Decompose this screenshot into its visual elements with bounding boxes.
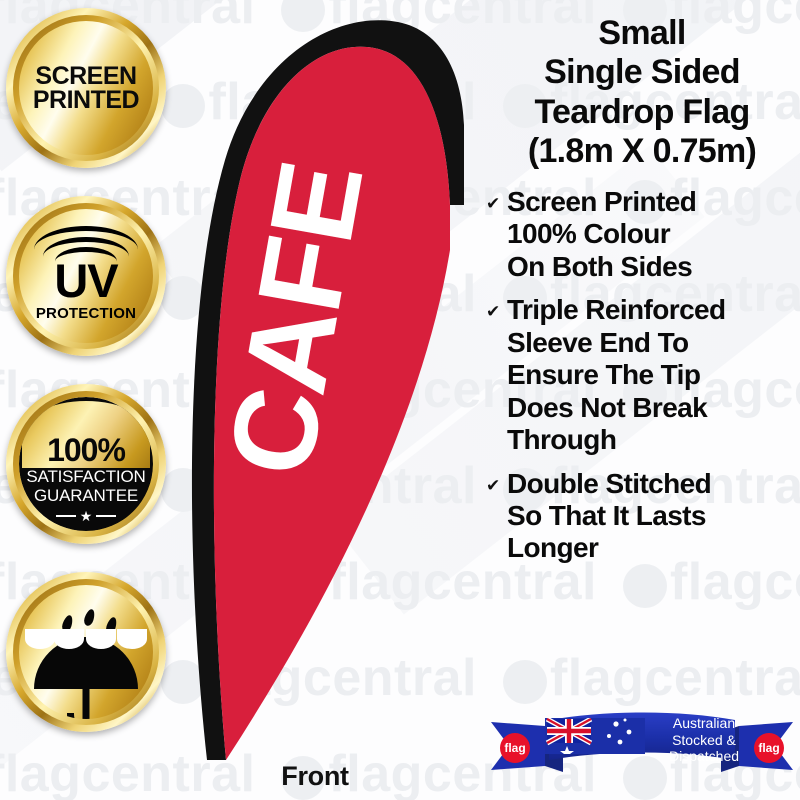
feature-text-line: Longer [507, 532, 711, 564]
feature-text: Double StitchedSo That It LastsLonger [507, 468, 711, 565]
ribbon-text-line: Australian [633, 715, 775, 732]
feature-text-line: Triple Reinforced [507, 294, 726, 326]
feature-text: Screen Printed100% ColourOn Both Sides [507, 186, 696, 283]
product-title: SmallSingle SidedTeardrop Flag(1.8m X 0.… [486, 14, 798, 172]
badge-face: SCREEN PRINTED [19, 21, 153, 155]
australian-stocked-banner: AustralianStocked &Dispatched flag flag [489, 706, 795, 780]
badge-face [19, 585, 153, 719]
feature-text-line: Ensure The Tip [507, 359, 726, 391]
feature-item: ✔Double StitchedSo That It LastsLonger [486, 468, 798, 565]
check-icon: ✔ [486, 468, 503, 496]
feature-text-line: Sleeve End To [507, 327, 726, 359]
badge-sub-text: PROTECTION [36, 305, 136, 322]
badge-screen-printed: SCREEN PRINTED [6, 8, 166, 168]
badge-line-2: PRINTED [33, 88, 139, 113]
badge-uv-protection: UV PROTECTION [6, 196, 166, 356]
badge-line-2: GUARANTEE [19, 486, 153, 506]
product-title-line: Single Sided [486, 53, 798, 92]
star-icon: ★ [80, 509, 93, 523]
feature-text-line: On Both Sides [507, 251, 696, 283]
feature-text-line: So That It Lasts [507, 500, 711, 532]
feature-text-line: Double Stitched [507, 468, 711, 500]
check-icon: ✔ [486, 186, 503, 214]
feature-list: ✔Screen Printed100% ColourOn Both Sides✔… [486, 186, 798, 565]
ribbon-badge-right: flag [754, 733, 784, 763]
badge-dome: 100% [22, 401, 150, 468]
badge-face: 100% SATISFACTION GUARANTEE ★ [19, 397, 153, 531]
ribbon-badge-left: flag [500, 733, 530, 763]
umbrella-rain-icon [19, 585, 153, 719]
teardrop-flag-shape [150, 0, 480, 790]
feature-text: Triple ReinforcedSleeve End ToEnsure The… [507, 294, 726, 456]
badge-line-1: SATISFACTION [19, 467, 153, 487]
badge-face: UV PROTECTION [19, 209, 153, 343]
feature-text-line: Through [507, 424, 726, 456]
product-title-line: (1.8m X 0.75m) [486, 132, 798, 171]
badge-line-1: SCREEN [33, 64, 139, 89]
star-divider: ★ [19, 509, 153, 523]
product-title-line: Teardrop Flag [486, 93, 798, 132]
australian-flag-icon [545, 718, 645, 759]
product-title-line: Small [486, 14, 798, 53]
view-label: Front [150, 761, 480, 792]
badge-weatherproof [6, 572, 166, 732]
feature-item: ✔Screen Printed100% ColourOn Both Sides [486, 186, 798, 283]
feature-text-line: Does Not Break [507, 392, 726, 424]
feature-text-line: Screen Printed [507, 186, 696, 218]
product-image: flagcentralflagcentralflagcentralflagcen… [0, 0, 800, 800]
sun-rays-icon [19, 226, 153, 266]
badge-satisfaction-guarantee: 100% SATISFACTION GUARANTEE ★ [6, 384, 166, 544]
feature-item: ✔Triple ReinforcedSleeve End ToEnsure Th… [486, 294, 798, 456]
badge-percent: 100% [47, 434, 125, 468]
ribbon-text: AustralianStocked &Dispatched [633, 715, 775, 765]
flag-body [214, 47, 450, 760]
product-info-panel: SmallSingle SidedTeardrop Flag(1.8m X 0.… [486, 14, 798, 576]
feature-text-line: 100% Colour [507, 218, 696, 250]
check-icon: ✔ [486, 294, 503, 322]
flag-artwork: CAFE Front [150, 0, 480, 800]
